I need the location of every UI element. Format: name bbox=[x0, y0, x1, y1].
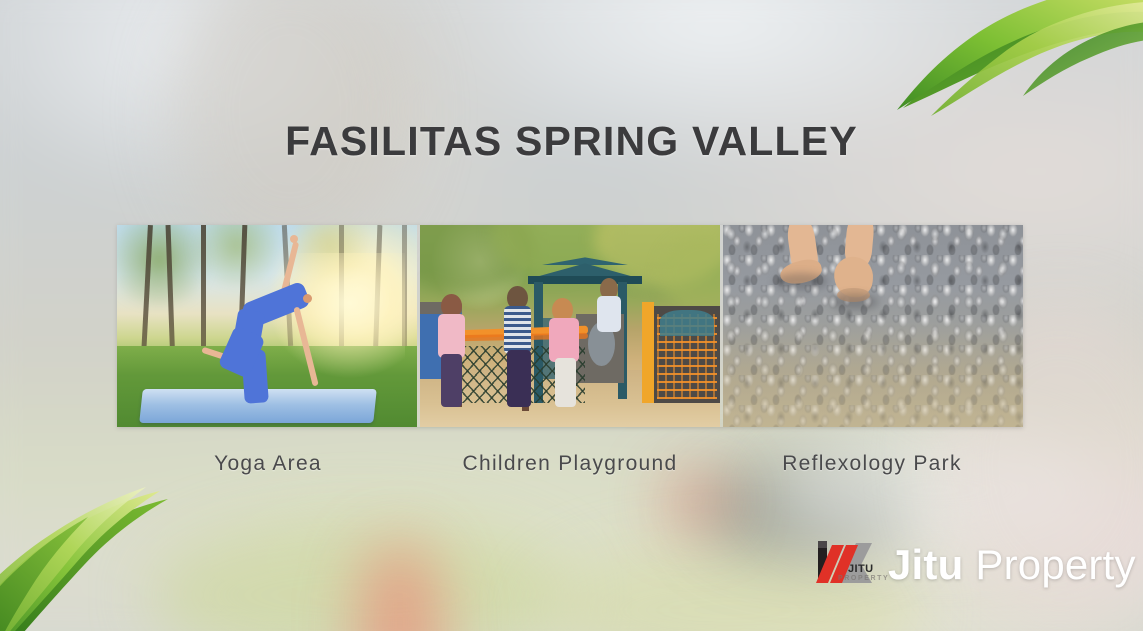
jitu-logo-mark-icon: JITU PROPERTY bbox=[812, 537, 888, 593]
facility-photo-strip bbox=[117, 225, 1023, 427]
facility-photo-children-playground bbox=[420, 225, 720, 427]
logo-mark-jitu-text: JITU bbox=[848, 563, 873, 575]
facility-caption-row: Yoga Area Children Playground Reflexolog… bbox=[117, 452, 1023, 476]
background-blur-blob bbox=[360, 545, 440, 631]
logo-mark-property-text: PROPERTY bbox=[838, 575, 889, 582]
caption-reflexology-park: Reflexology Park bbox=[721, 452, 1023, 476]
brand-wordmark: Jitu Property bbox=[888, 544, 1136, 586]
facility-photo-reflexology-park bbox=[723, 225, 1023, 427]
background-blur-blob bbox=[660, 470, 730, 530]
facility-photo-yoga-area bbox=[117, 225, 417, 427]
slide-canvas: FASILITAS SPRING VALLEY bbox=[0, 0, 1143, 631]
brand-name-property: Property bbox=[975, 541, 1135, 588]
brand-name-jitu: Jitu bbox=[888, 541, 963, 588]
caption-children-playground: Children Playground bbox=[419, 452, 721, 476]
page-title: FASILITAS SPRING VALLEY bbox=[0, 118, 1143, 165]
brand-logo: JITU PROPERTY Jitu Property bbox=[812, 534, 1136, 596]
caption-yoga-area: Yoga Area bbox=[117, 452, 419, 476]
